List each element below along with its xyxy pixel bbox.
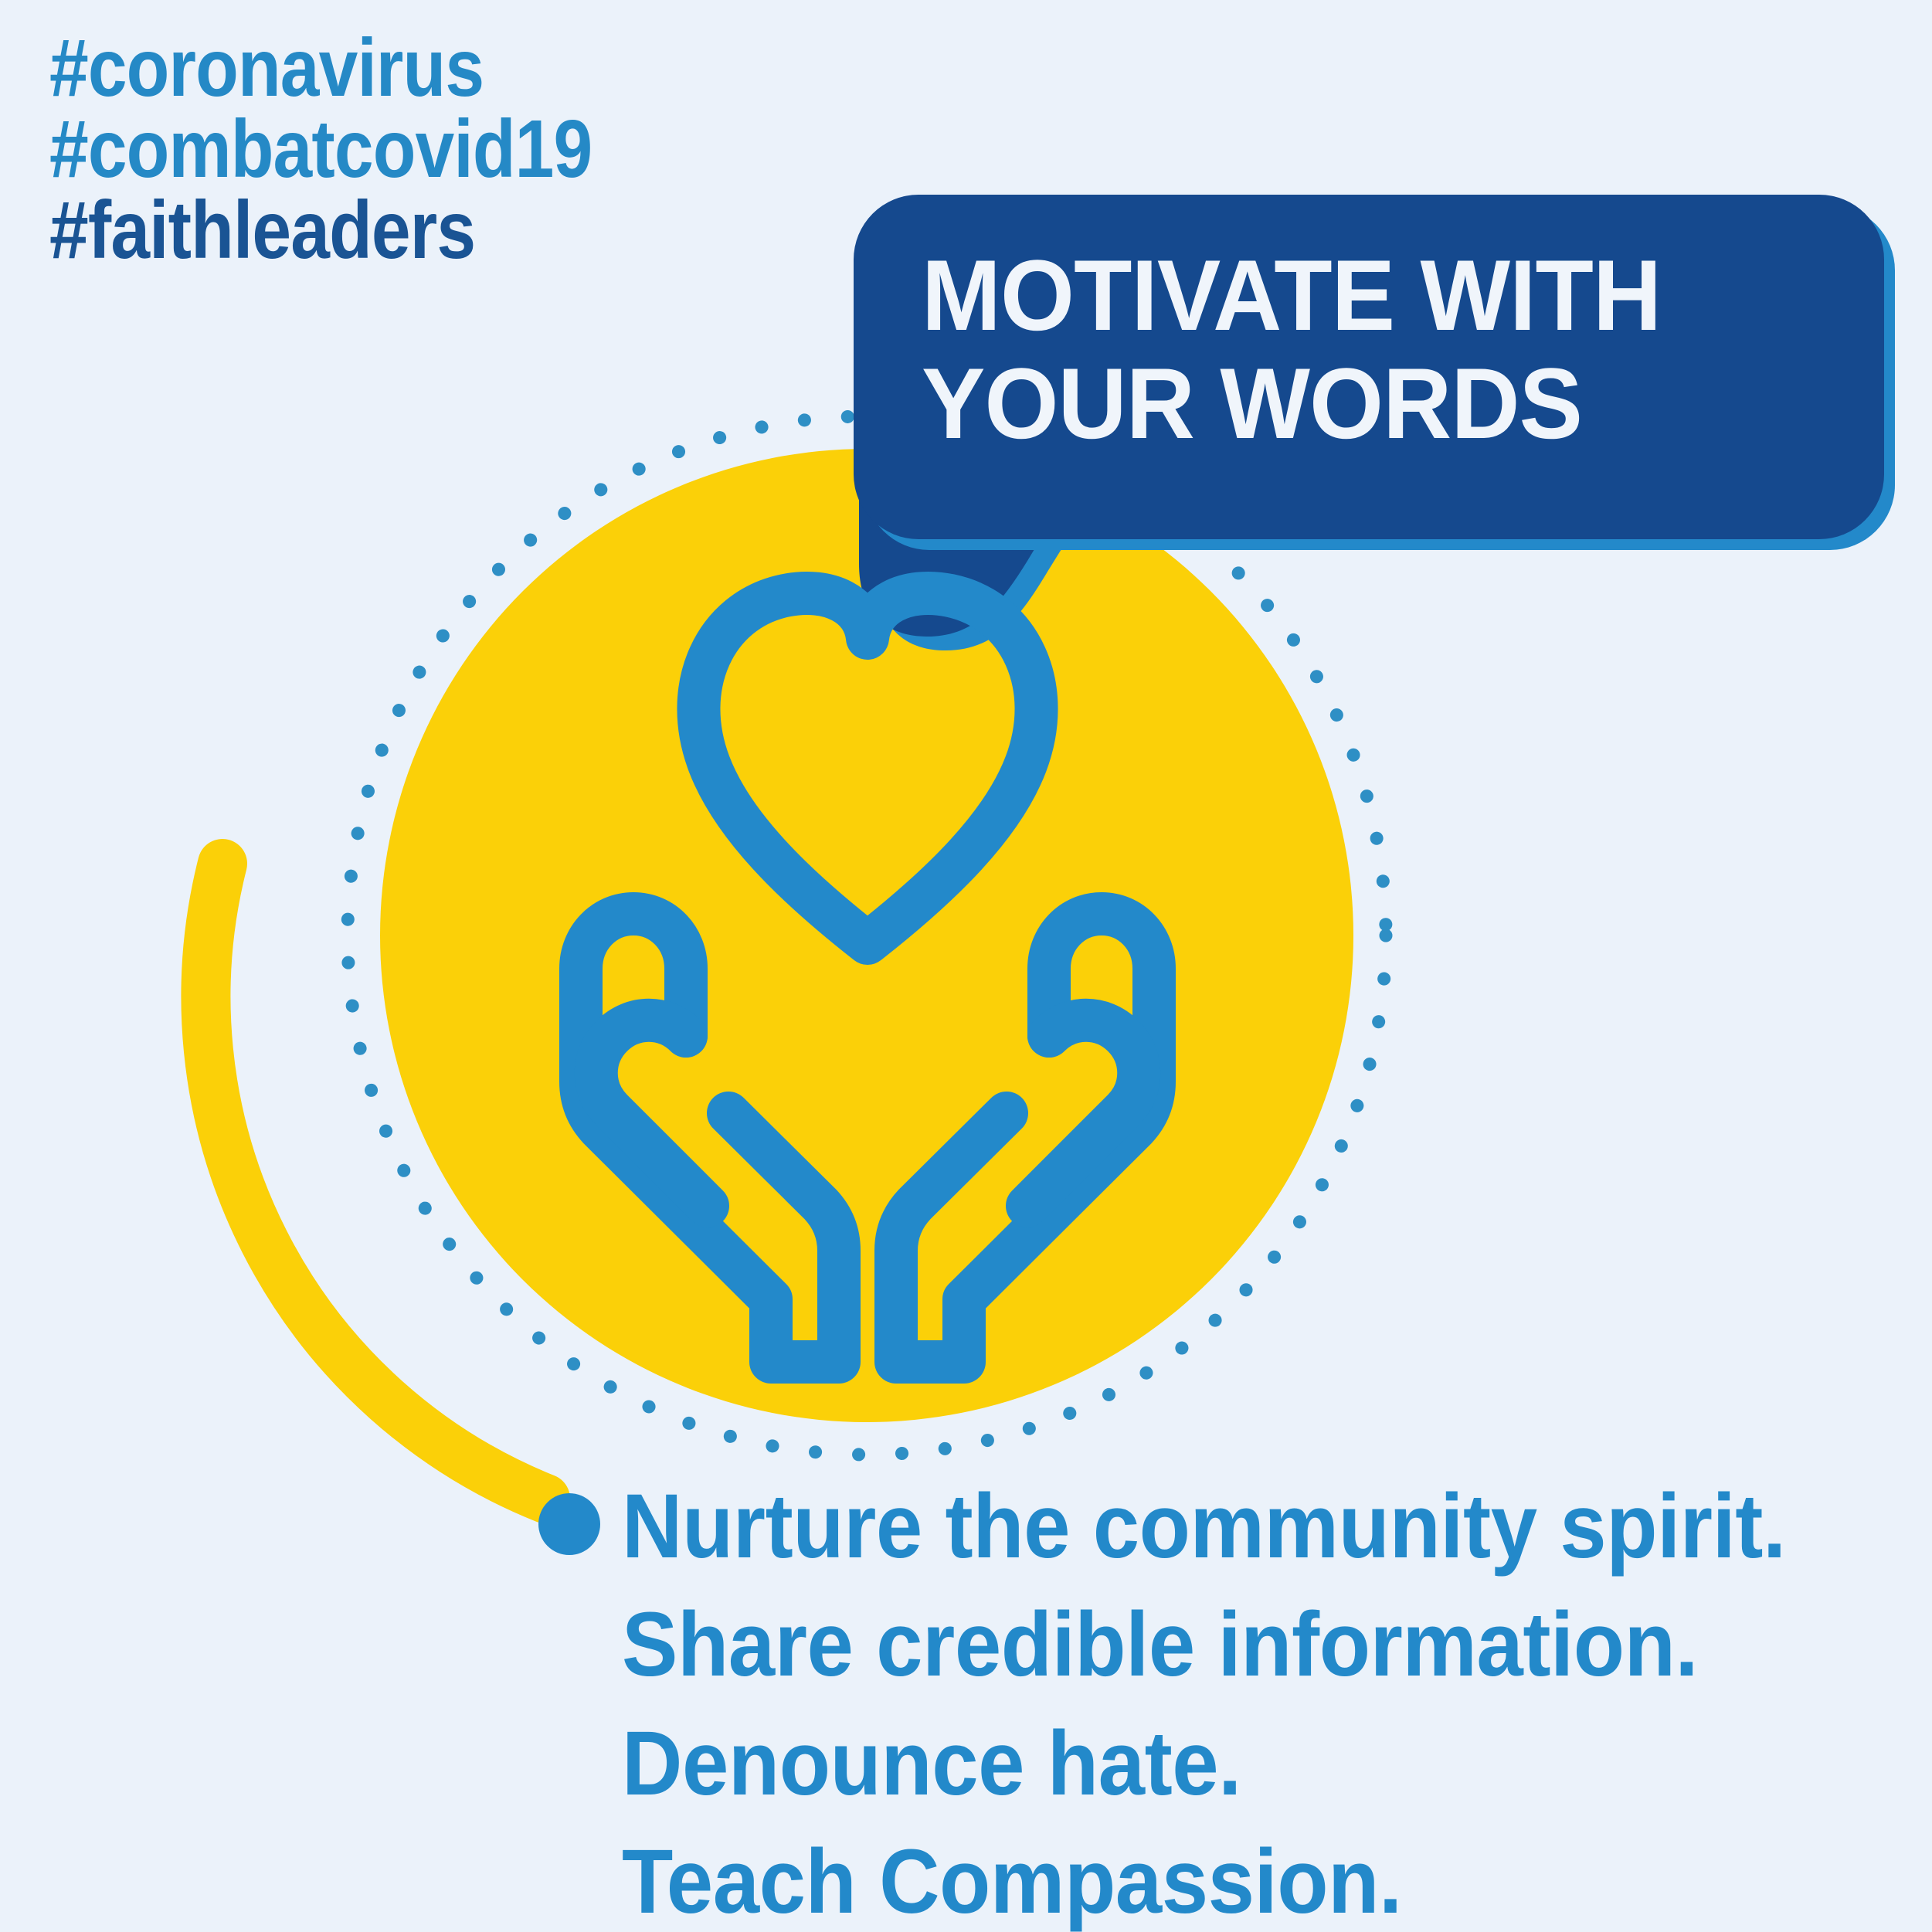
- bullet-dot-icon: [538, 1493, 600, 1555]
- hashtag-coronavirus: #coronavirus: [49, 28, 592, 109]
- speech-bubble-headline: MOTIVATE WITH YOUR WORDS: [922, 241, 1802, 458]
- hashtag-faithleaders: #faithleaders: [49, 190, 592, 271]
- message-line-4: Teach Compassion.: [622, 1823, 1759, 1932]
- poster-canvas: #coronavirus #combatcovid19 #faithleader…: [0, 0, 1932, 1932]
- speech-bubble: MOTIVATE WITH YOUR WORDS: [854, 195, 1895, 627]
- message-line-3: Denounce hate.: [622, 1705, 1759, 1823]
- message-list: Nurture the community spirit. Share cred…: [622, 1468, 1858, 1932]
- message-line-2: Share credible information.: [622, 1586, 1759, 1704]
- hashtag-group: #coronavirus #combatcovid19 #faithleader…: [49, 28, 681, 271]
- hashtag-combatcovid19: #combatcovid19: [49, 109, 592, 190]
- message-line-1: Nurture the community spirit.: [622, 1468, 1759, 1586]
